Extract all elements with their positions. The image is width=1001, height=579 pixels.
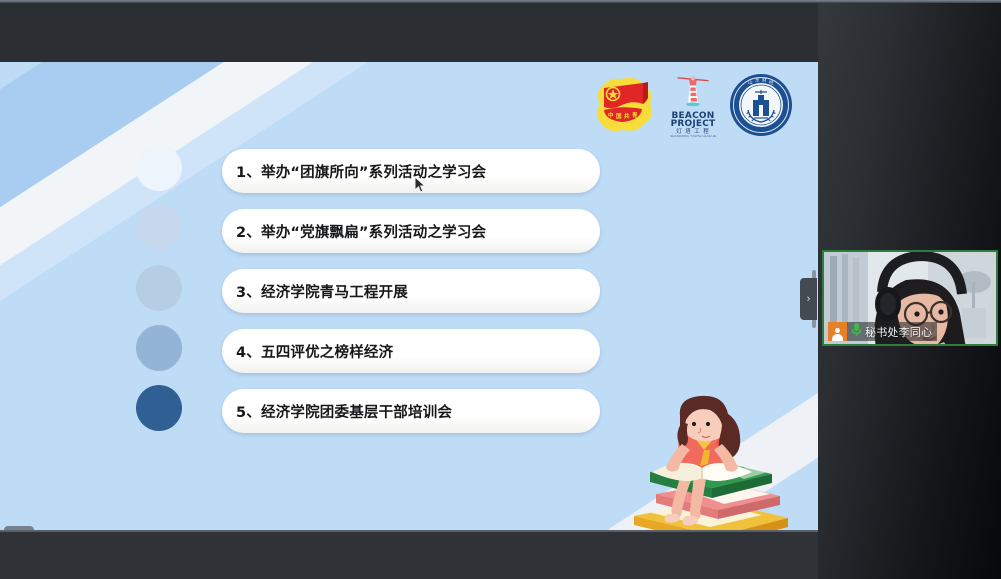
slide-list-item: 1、举办“团旗所向”系列活动之学习会 xyxy=(222,149,600,193)
stage-letterbox-bottom xyxy=(0,530,818,579)
svg-text:青: 青 xyxy=(632,111,638,119)
slide-list-item-text: 5、经济学院团委基层干部培训会 xyxy=(236,401,452,422)
svg-text:经: 经 xyxy=(769,79,774,86)
stage-letterbox-top xyxy=(0,3,818,62)
slide-list-item-text: 1、举办“团旗所向”系列活动之学习会 xyxy=(236,161,486,182)
svg-text:共: 共 xyxy=(624,112,630,120)
svg-text:国: 国 xyxy=(616,112,622,120)
svg-text:中: 中 xyxy=(608,111,614,119)
slide-bullet-5 xyxy=(136,385,182,431)
shared-slide[interactable]: 中国共青 BEACON PROJECT xyxy=(0,62,818,530)
girl-reading-on-books xyxy=(622,394,797,530)
avatar xyxy=(828,322,847,341)
collapse-panel-handle[interactable]: › xyxy=(800,278,817,320)
slide-bullet-2 xyxy=(136,205,182,251)
slide-list-button[interactable] xyxy=(4,526,34,530)
slide-list-item: 3、经济学院青马工程开展 xyxy=(222,269,600,313)
participant-name: 秘书处李同心 xyxy=(865,324,932,340)
slide-list-item: 2、举办“党旗飘扁”系列活动之学习会 xyxy=(222,209,600,253)
slide-list-item: 5、经济学院团委基层干部培训会 xyxy=(222,389,600,433)
avatar-person-icon xyxy=(832,334,843,341)
slide-bullet-4 xyxy=(136,325,182,371)
slide-item-list: 1、举办“团旗所向”系列活动之学习会 2、举办“党旗飘扁”系列活动之学习会 3、… xyxy=(222,149,600,449)
slide-list-item-text: 2、举办“党旗飘扁”系列活动之学习会 xyxy=(236,221,486,242)
chevron-right-icon: › xyxy=(807,294,811,305)
beacon-project-logo: BEACON PROJECT 灯 塔 工 程 SHANDONG YOUTH LE… xyxy=(670,72,716,138)
stage-divider xyxy=(0,530,818,532)
svg-text:东: 东 xyxy=(755,76,760,83)
beacon-en-line2: PROJECT xyxy=(670,120,716,129)
participant-video-tile[interactable]: 秘书处李同心 xyxy=(822,250,998,346)
youth-league-emblem: 中国共青 xyxy=(588,74,658,136)
slide-bullet-3 xyxy=(136,265,182,311)
mouse-cursor xyxy=(414,176,426,199)
microphone-icon xyxy=(850,322,863,342)
slide-logo-row: 中国共青 BEACON PROJECT xyxy=(588,72,794,138)
slide-list-item-text: 3、经济学院青马工程开展 xyxy=(236,281,408,302)
participant-name-badge: 秘书处李同心 xyxy=(828,322,937,341)
slide-bullet-column xyxy=(136,145,182,445)
slide-list-item: 4、五四评优之榜样经济 xyxy=(222,329,600,373)
svg-text:财: 财 xyxy=(762,76,767,83)
slide-list-item-text: 4、五四评优之榜样经济 xyxy=(236,341,393,362)
svg-text:山: 山 xyxy=(748,79,753,86)
participant-label: 秘书处李同心 xyxy=(847,322,937,341)
slide-bullet-1 xyxy=(136,145,182,191)
beacon-project-text: BEACON PROJECT 灯 塔 工 程 SHANDONG YOUTH LE… xyxy=(670,112,716,138)
university-seal: 山东财经 xyxy=(728,72,794,138)
beacon-sub-line: SHANDONG YOUTH LEAGUE xyxy=(670,135,716,138)
meeting-window: 中国共青 BEACON PROJECT xyxy=(0,0,1001,579)
